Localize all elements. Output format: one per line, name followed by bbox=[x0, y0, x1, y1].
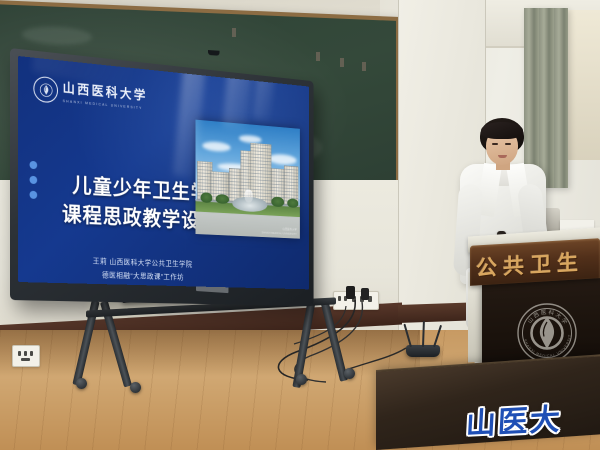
photo-tree bbox=[271, 196, 284, 207]
display-screen[interactable]: 山西医科大学 SHANXI MEDICAL UNIVERSITY 儿童少年卫生学… bbox=[18, 56, 309, 289]
slide-bullet-dot bbox=[30, 161, 38, 169]
presenter-mouth bbox=[498, 155, 507, 158]
presenter-hair-fringe bbox=[481, 122, 523, 139]
photo-main-tower bbox=[250, 142, 271, 204]
photo-tree bbox=[287, 198, 298, 208]
university-seal-emblem-icon: 山西医科大学 SHANXI MEDICAL UNIVERSITY bbox=[516, 302, 578, 364]
slide-bullet-dot bbox=[30, 176, 38, 184]
campus-photograph: 山西医科大学 SHANXI MEDICAL UNIVERSITY bbox=[195, 120, 299, 239]
stand-caster bbox=[130, 382, 141, 393]
photo-tree bbox=[216, 194, 229, 204]
stand-caster bbox=[76, 378, 87, 389]
chalkboard-clip bbox=[362, 62, 366, 71]
lectern-podium: 公共卫生 山西医科大学 SHANXI MEDICAL UNIVERSITY bbox=[468, 232, 600, 372]
podium-plaque-text: 公共卫生 bbox=[476, 246, 584, 282]
podium-nameplate: 公共卫生 bbox=[470, 238, 600, 286]
stand-caster bbox=[296, 374, 307, 385]
slide-subtitle: 王莉 山西医科大学公共卫生学院 德医相融“大思政课”工作坊 bbox=[56, 253, 226, 284]
photo-caption: 山西医科大学 SHANXI MEDICAL UNIVERSITY bbox=[262, 226, 297, 236]
presentation-slide: 山西医科大学 SHANXI MEDICAL UNIVERSITY 儿童少年卫生学… bbox=[18, 56, 309, 289]
stand-caster bbox=[344, 368, 355, 379]
window-daylight bbox=[566, 10, 600, 160]
slide-logo-text: 山西医科大学 SHANXI MEDICAL UNIVERSITY bbox=[63, 79, 148, 111]
slide-bullet-dots bbox=[30, 161, 38, 199]
screenshot-root: 山西医科大学 SHANXI MEDICAL UNIVERSITY 儿童少年卫生学… bbox=[0, 0, 600, 450]
channel-watermark: 山医大 bbox=[465, 393, 593, 442]
photo-tree bbox=[201, 192, 213, 203]
slide-logo-name-zh: 山西医科大学 bbox=[63, 80, 148, 103]
chalkboard-clip bbox=[232, 28, 236, 37]
wall-power-socket[interactable] bbox=[12, 345, 40, 367]
slide-university-logo: 山西医科大学 SHANXI MEDICAL UNIVERSITY bbox=[33, 76, 147, 112]
power-plug bbox=[361, 288, 369, 300]
presenter-eye bbox=[505, 143, 511, 145]
slide-bullet-dot bbox=[30, 191, 38, 199]
shanxi-medical-university-emblem-icon bbox=[33, 76, 58, 104]
camera-nub-icon bbox=[208, 50, 220, 56]
photo-fountain-jet bbox=[245, 189, 253, 203]
presenter-eye bbox=[492, 143, 498, 145]
interactive-flat-panel-display[interactable]: 山西医科大学 SHANXI MEDICAL UNIVERSITY 儿童少年卫生学… bbox=[10, 48, 362, 303]
